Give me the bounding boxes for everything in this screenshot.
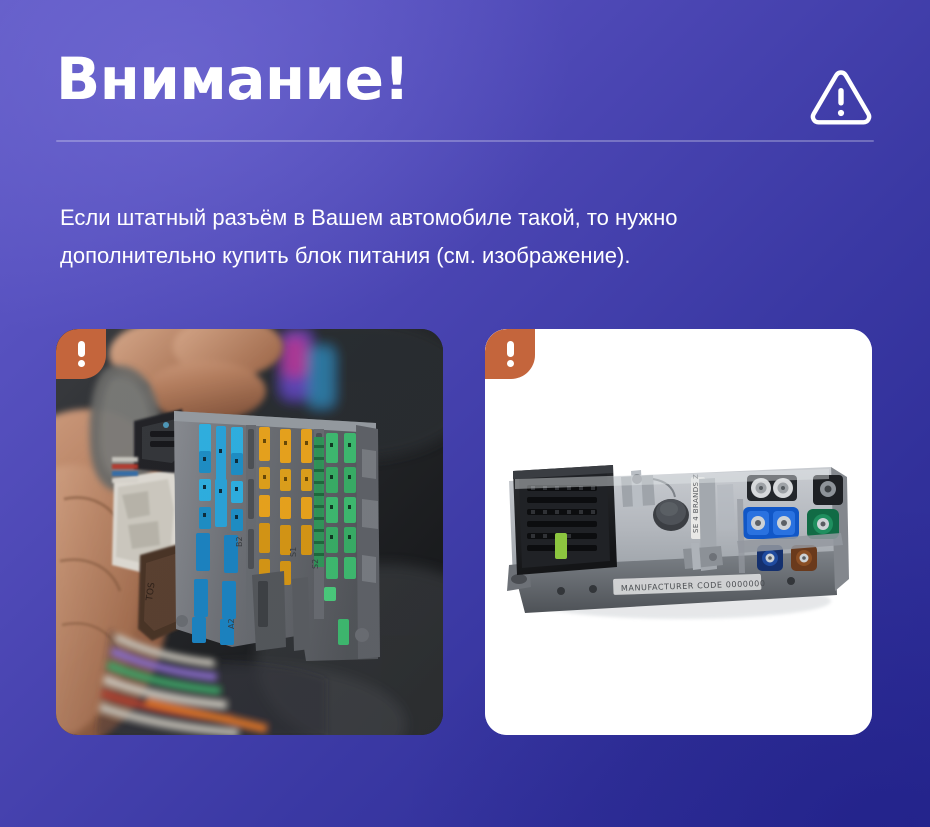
header-area: Внимание! [0, 0, 930, 122]
header: Внимание! [56, 0, 874, 122]
exclamation-badge-icon [485, 329, 535, 379]
exclamation-glyph [78, 341, 85, 367]
connector-photo: TOS [56, 329, 443, 735]
power-supply-photo-card[interactable]: SE 4 BRANDS Z [485, 329, 872, 735]
attention-banner: Внимание! Если штатный разъём в Вашем ав… [0, 0, 930, 827]
image-cards: TOS [56, 329, 874, 735]
header-divider [56, 140, 874, 142]
body-paragraph: Если штатный разъём в Вашем автомобиле т… [60, 199, 870, 275]
power-supply-photo: SE 4 BRANDS Z [485, 329, 872, 735]
exclamation-glyph [507, 341, 514, 367]
body-paragraph-line-2: дополнительно купить блок питания (см. и… [60, 237, 870, 275]
page-title: Внимание! [56, 50, 409, 109]
body-paragraph-line-1: Если штатный разъём в Вашем автомобиле т… [60, 205, 678, 230]
exclamation-badge-icon [56, 329, 106, 379]
connector-photo-card[interactable]: TOS [56, 329, 443, 735]
warning-triangle-icon [808, 66, 874, 126]
